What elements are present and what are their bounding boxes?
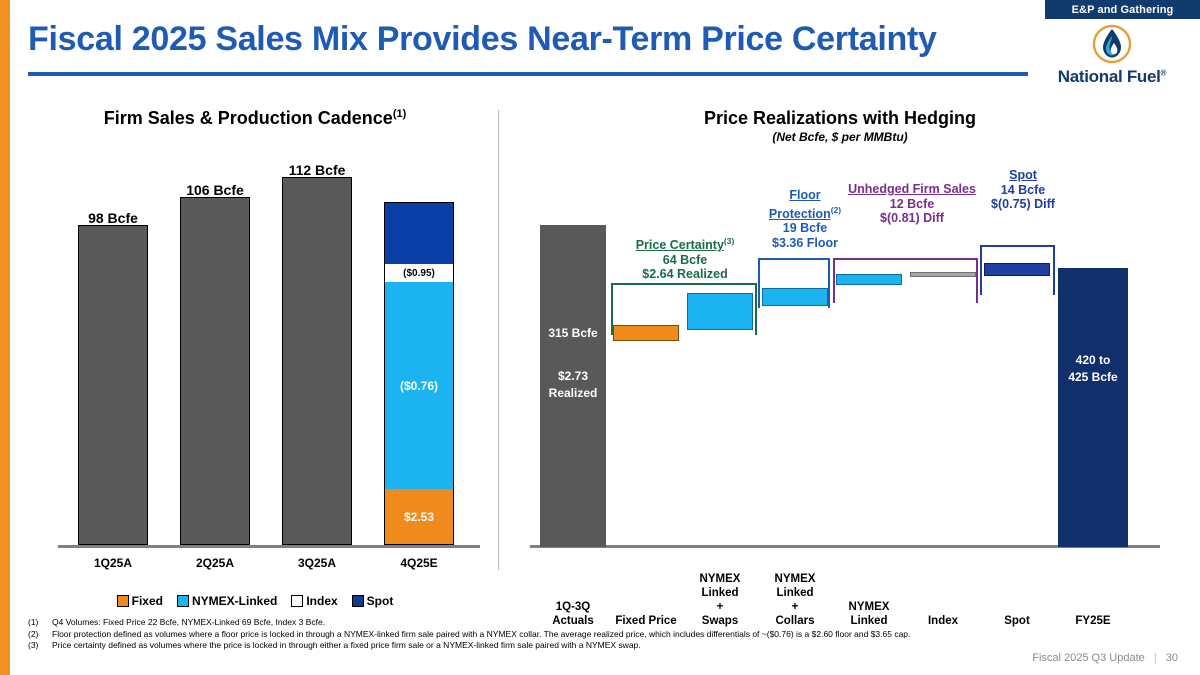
legend-swatch-nymex-linked bbox=[177, 595, 189, 607]
annotation-spot-line2: 14 Bcfe bbox=[968, 183, 1078, 198]
legend-item-spot[interactable]: Spot bbox=[352, 594, 394, 608]
waterfall-bar-nymex-linked[interactable] bbox=[836, 274, 902, 285]
price-realizations-waterfall: Price Certainty(3) 64 Bcfe $2.64 Realize… bbox=[510, 140, 1170, 560]
legend-label-index: Index bbox=[306, 594, 337, 608]
footer-separator: | bbox=[1154, 652, 1157, 664]
left-panel-title: Firm Sales & Production Cadence(1) bbox=[30, 108, 480, 129]
slide: E&P and Gathering Fiscal 2025 Sales Mix … bbox=[0, 0, 1200, 675]
company-logo: National Fuel® bbox=[1042, 24, 1182, 87]
legend-label-fixed: Fixed bbox=[132, 594, 163, 608]
legend-item-nymex-linked[interactable]: NYMEX-Linked bbox=[177, 594, 277, 608]
left-panel-title-sup: (1) bbox=[393, 108, 406, 120]
logo-wordmark-text: National Fuel bbox=[1058, 67, 1161, 86]
footnote-2: (2) Floor protection defined as volumes … bbox=[28, 629, 1148, 641]
firm-sales-bar-chart: 98 Bcfe 1Q25A 106 Bcfe 2Q25A 112 Bcfe 3Q… bbox=[30, 140, 480, 560]
annotation-floor-protection-line1b: Protection bbox=[769, 207, 831, 221]
xtick-4q25e: 4Q25E bbox=[364, 556, 474, 570]
bar-1q25a[interactable] bbox=[78, 225, 148, 545]
footer-page-number: 30 bbox=[1166, 652, 1178, 664]
logo-trademark: ® bbox=[1161, 68, 1167, 77]
left-chart-baseline bbox=[58, 545, 480, 548]
waterfall-label-fy25e: 420 to425 Bcfe bbox=[1056, 352, 1130, 386]
bar-label-2q25a: 106 Bcfe bbox=[160, 182, 270, 198]
right-panel-title: Price Realizations with Hedging bbox=[510, 108, 1170, 129]
legend-swatch-spot bbox=[352, 595, 364, 607]
annotation-floor-protection-line3: $3.36 Floor bbox=[750, 236, 860, 251]
annotation-price-certainty-line2: 64 Bcfe bbox=[620, 253, 750, 268]
bar-label-3q25a: 112 Bcfe bbox=[262, 162, 372, 178]
legend-item-index[interactable]: Index bbox=[291, 594, 337, 608]
left-panel-title-text: Firm Sales & Production Cadence bbox=[104, 108, 393, 128]
waterfall-bar-nymex-collars[interactable] bbox=[762, 288, 828, 306]
footnote-1: (1) Q4 Volumes: Fixed Price 22 Bcfe, NYM… bbox=[28, 617, 1148, 629]
panel-divider bbox=[498, 110, 499, 570]
footer-deck-name: Fiscal 2025 Q3 Update bbox=[1032, 652, 1145, 664]
legend-label-spot: Spot bbox=[367, 594, 394, 608]
left-accent-stripe bbox=[0, 0, 10, 675]
footnotes: (1) Q4 Volumes: Fixed Price 22 Bcfe, NYM… bbox=[28, 617, 1148, 652]
logo-wordmark: National Fuel® bbox=[1042, 67, 1182, 87]
footnote-3: (3) Price certainty defined as volumes w… bbox=[28, 640, 1148, 652]
xtick-3q25a: 3Q25A bbox=[262, 556, 372, 570]
annotation-unhedged-line3: $(0.81) Diff bbox=[832, 211, 992, 226]
waterfall-label-fy25e-line2: 425 Bcfe bbox=[1068, 370, 1117, 384]
legend-swatch-index bbox=[291, 595, 303, 607]
title-underline bbox=[28, 72, 1028, 76]
xtick-2q25a: 2Q25A bbox=[160, 556, 270, 570]
annotation-price-certainty-line1: Price Certainty bbox=[636, 238, 724, 252]
footnote-2-marker: (2) bbox=[28, 629, 46, 641]
annotation-unhedged-line1: Unhedged Firm Sales bbox=[848, 182, 976, 196]
annotation-spot-line1: Spot bbox=[1009, 168, 1037, 182]
slide-footer: Fiscal 2025 Q3 Update | 30 bbox=[1032, 652, 1178, 664]
annotation-price-certainty-sup: (3) bbox=[724, 236, 734, 246]
waterfall-bar-index[interactable] bbox=[910, 272, 976, 277]
bar-2q25a[interactable] bbox=[180, 197, 250, 545]
page-title: Fiscal 2025 Sales Mix Provides Near-Term… bbox=[28, 20, 1008, 59]
footnote-1-text: Q4 Volumes: Fixed Price 22 Bcfe, NYMEX-L… bbox=[52, 617, 325, 629]
bar-4q25e-stack[interactable]: ($0.95) ($0.76) $2.53 bbox=[384, 202, 454, 545]
bar-label-1q25a: 98 Bcfe bbox=[58, 210, 168, 226]
xtick-1q25a: 1Q25A bbox=[58, 556, 168, 570]
footnote-3-text: Price certainty defined as volumes where… bbox=[52, 640, 641, 652]
legend-item-fixed[interactable]: Fixed bbox=[117, 594, 163, 608]
annotation-spot: Spot 14 Bcfe $(0.75) Diff bbox=[968, 168, 1078, 212]
footnote-3-marker: (3) bbox=[28, 640, 46, 652]
flame-droplet-icon bbox=[1092, 24, 1132, 64]
stack-seg-nymex-linked[interactable]: ($0.76) bbox=[384, 282, 454, 489]
waterfall-bar-fixed-price[interactable] bbox=[613, 325, 679, 341]
stack-seg-index[interactable]: ($0.95) bbox=[384, 264, 454, 282]
section-tag: E&P and Gathering bbox=[1045, 0, 1200, 19]
stack-seg-fixed[interactable]: $2.53 bbox=[384, 489, 454, 545]
annotation-spot-line3: $(0.75) Diff bbox=[968, 197, 1078, 212]
waterfall-label-actuals-2: $2.73Realized bbox=[530, 368, 616, 402]
stack-seg-spot[interactable] bbox=[384, 202, 454, 264]
waterfall-bar-fy25e[interactable] bbox=[1058, 268, 1128, 547]
bar-3q25a[interactable] bbox=[282, 177, 352, 545]
waterfall-bar-nymex-swaps[interactable] bbox=[687, 293, 753, 330]
footnote-1-marker: (1) bbox=[28, 617, 46, 629]
legend-swatch-fixed bbox=[117, 595, 129, 607]
waterfall-label-fy25e-line1: 420 to bbox=[1076, 353, 1111, 367]
waterfall-bar-spot[interactable] bbox=[984, 263, 1050, 276]
waterfall-label-actuals-1: 315 Bcfe bbox=[538, 325, 608, 342]
legend-label-nymex-linked: NYMEX-Linked bbox=[192, 594, 277, 608]
footnote-2-text: Floor protection defined as volumes wher… bbox=[52, 629, 910, 641]
annotation-price-certainty: Price Certainty(3) 64 Bcfe $2.64 Realize… bbox=[620, 234, 750, 282]
left-chart-legend: Fixed NYMEX-Linked Index Spot bbox=[30, 594, 480, 608]
annotation-price-certainty-line3: $2.64 Realized bbox=[620, 267, 750, 282]
annotation-floor-protection-line1a: Floor bbox=[789, 188, 820, 202]
